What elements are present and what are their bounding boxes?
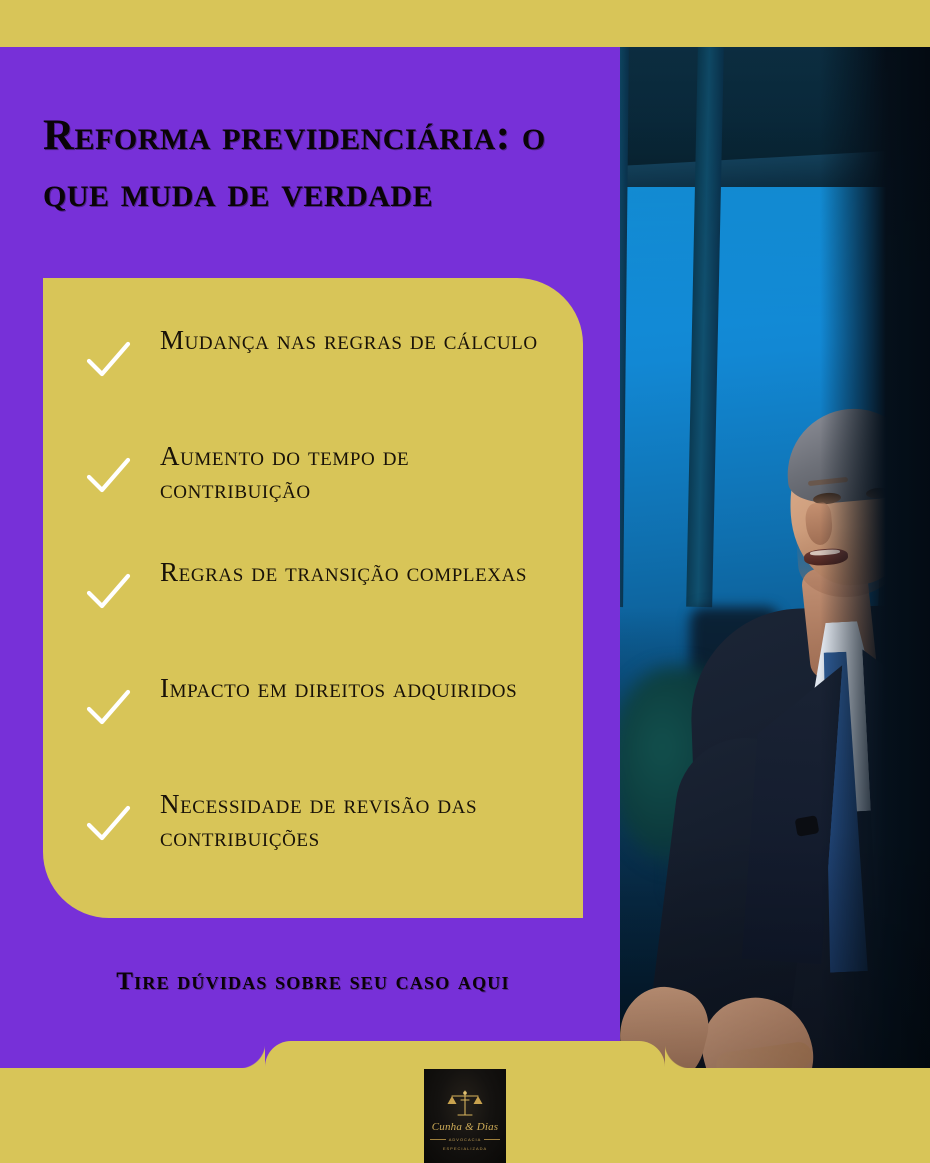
checklist: Mudança nas regras de cálculo Aumento do… (43, 278, 583, 918)
list-item: Mudança nas regras de cálculo (43, 318, 583, 434)
list-item: Aumento do tempo de contribuição (43, 434, 583, 550)
page-title: Reforma previdenciária: o que muda de ve… (43, 107, 603, 221)
list-item-label: Regras de transição complexas (160, 550, 527, 589)
check-icon (80, 796, 136, 852)
speaker-photo (620, 47, 930, 1163)
brand-logo: Cunha & Dias ADVOCACIA ESPECIALIZADA (424, 1069, 506, 1163)
poster-canvas: Reforma previdenciária: o que muda de ve… (0, 0, 930, 1163)
list-item-label: Mudança nas regras de cálculo (160, 318, 538, 357)
list-item: Impacto em direitos adquiridos (43, 666, 583, 782)
check-icon (80, 680, 136, 736)
photo-vignette (620, 47, 930, 1163)
brand-name: Cunha & Dias (424, 1121, 506, 1133)
list-item: Regras de transição complexas (43, 550, 583, 666)
cta-text[interactable]: Tire dúvidas sobre seu caso aqui (43, 968, 583, 996)
list-item: Necessidade de revisão das contribuições (43, 782, 583, 898)
list-item-label: Aumento do tempo de contribuição (160, 434, 560, 506)
check-icon (80, 564, 136, 620)
check-icon (80, 332, 136, 388)
checklist-card: Mudança nas regras de cálculo Aumento do… (43, 278, 583, 918)
top-gold-bar (0, 0, 930, 47)
brand-tagline-line1: ADVOCACIA (424, 1137, 506, 1142)
bottom-center-tab (265, 1041, 665, 1068)
scales-of-justice-icon (445, 1089, 485, 1119)
brand-tagline-line2: ESPECIALIZADA (424, 1146, 506, 1151)
list-item-label: Impacto em direitos adquiridos (160, 666, 517, 705)
list-item-label: Necessidade de revisão das contribuições (160, 782, 560, 854)
check-icon (80, 448, 136, 504)
